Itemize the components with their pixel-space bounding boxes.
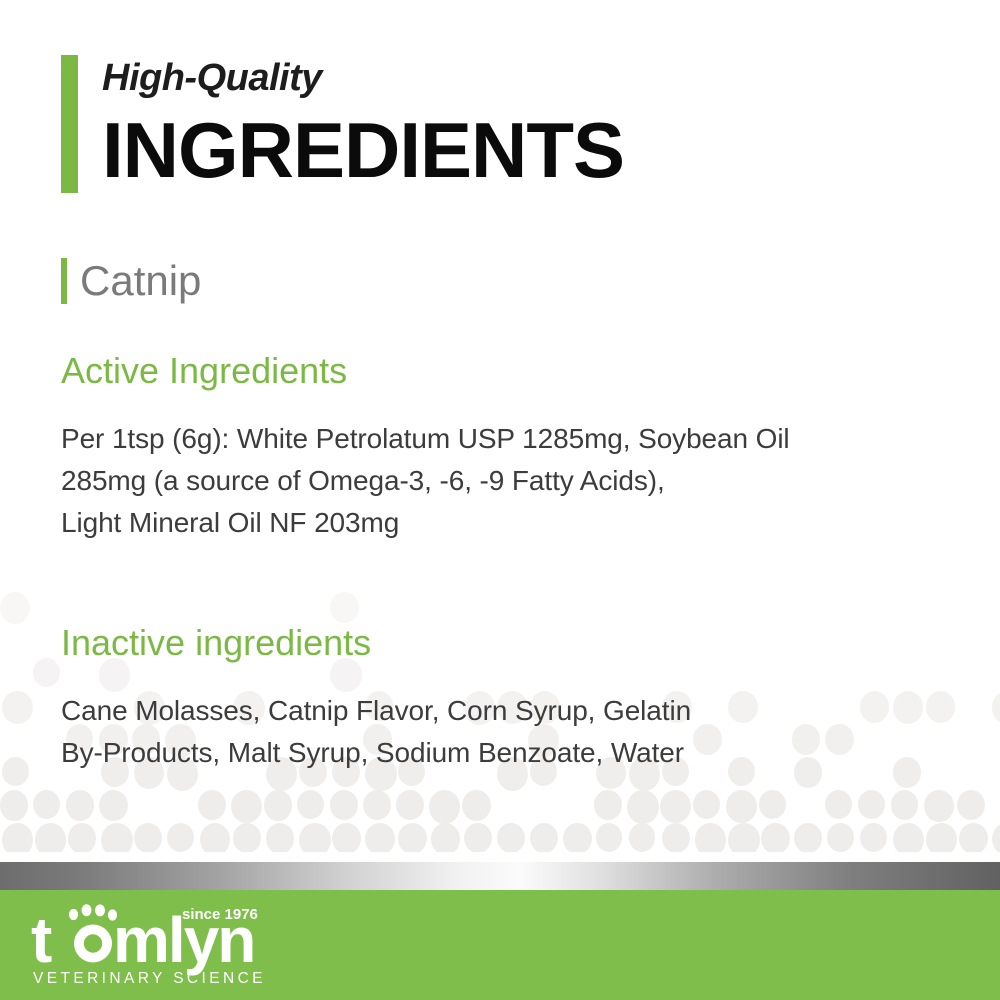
decorative-dot (231, 790, 262, 823)
section-title-inactive: Inactive ingredients (61, 622, 951, 664)
page-header: High-Quality INGREDIENTS (61, 55, 624, 193)
decorative-dot (2, 757, 29, 786)
decorative-dot (233, 823, 261, 852)
decorative-dot (33, 790, 60, 819)
decorative-dot (429, 790, 460, 824)
page-footer: t mlyn since 1976 VETERINARY SCIENCE (0, 890, 1000, 1000)
tomlyn-logo[interactable]: t mlyn since 1976 VETERINARY SCIENCE (31, 902, 291, 988)
header-eyebrow: High-Quality (102, 59, 624, 97)
decorative-dot (198, 790, 226, 820)
decorative-dot (33, 658, 60, 687)
header-text-group: High-Quality INGREDIENTS (102, 55, 624, 193)
decorative-dot (200, 823, 230, 852)
body-line: Cane Molasses, Catnip Flavor, Corn Syrup… (61, 690, 951, 732)
decorative-dot (860, 823, 887, 852)
decorative-dot (825, 790, 852, 819)
decorative-dot (563, 823, 592, 852)
decorative-dot (761, 823, 790, 852)
section-inactive-ingredients: Inactive ingredients Cane Molasses, Catn… (61, 622, 951, 774)
decorative-dot (924, 790, 954, 822)
decorative-dot (68, 823, 96, 852)
decorative-dot (629, 823, 655, 852)
body-line: Per 1tsp (6g): White Petrolatum USP 1285… (61, 418, 951, 460)
section-active-ingredients: Active Ingredients Per 1tsp (6g): White … (61, 350, 951, 544)
decorative-dot (728, 823, 760, 852)
decorative-dot (134, 823, 162, 852)
decorative-dot (0, 592, 30, 624)
body-line: By-Products, Malt Syrup, Sodium Benzoate… (61, 732, 951, 774)
decorative-dot (66, 790, 94, 821)
ingredients-panel: High-Quality INGREDIENTS Catnip Active I… (0, 0, 1000, 1000)
decorative-dot (891, 790, 918, 820)
decorative-dot (167, 823, 194, 852)
section-title-active: Active Ingredients (61, 350, 951, 392)
decorative-dot (726, 790, 757, 823)
product-name: Catnip (80, 258, 201, 304)
decorative-dot (431, 823, 460, 852)
decorative-dot (992, 823, 1000, 852)
decorative-dot (662, 823, 690, 852)
decorative-dot (297, 790, 324, 819)
header-accent-bar (61, 55, 78, 193)
logo-since-label: since 1976 (182, 906, 258, 923)
decorative-dot (926, 823, 957, 852)
decorative-dot (396, 790, 424, 820)
svg-text:t: t (31, 904, 52, 976)
decorative-dot (827, 823, 854, 852)
paw-print-umlaut-icon (69, 904, 117, 920)
section-body-active: Per 1tsp (6g): White Petrolatum USP 1285… (61, 418, 951, 544)
decorative-dot (992, 691, 1000, 724)
decorative-dot (497, 823, 525, 852)
decorative-dot (330, 592, 359, 623)
decorative-dot (530, 823, 558, 852)
decorative-dot (596, 823, 622, 852)
decorative-dot (959, 823, 988, 852)
decorative-dot (462, 790, 491, 821)
page-title: INGREDIENTS (102, 111, 624, 189)
decorative-dot (660, 790, 691, 823)
decorative-dot (99, 790, 128, 821)
decorative-dot (693, 790, 720, 819)
decorative-dot (594, 790, 622, 820)
decorative-dot (759, 790, 786, 819)
body-line: 285mg (a source of Omega-3, -6, -9 Fatty… (61, 460, 951, 502)
decorative-dot (627, 790, 659, 824)
decorative-dot (363, 790, 391, 820)
logo-tagline-label: VETERINARY SCIENCE (33, 970, 266, 987)
decorative-dot (464, 823, 492, 852)
decorative-dot (695, 823, 726, 852)
decorative-dot (794, 823, 822, 852)
product-name-row: Catnip (61, 258, 201, 304)
decorative-dot (858, 790, 885, 819)
section-body-inactive: Cane Molasses, Catnip Flavor, Corn Syrup… (61, 690, 951, 774)
decorative-dot (2, 691, 33, 724)
decorative-dot (893, 823, 924, 852)
product-accent-bar (61, 258, 67, 304)
decorative-dot (330, 790, 358, 820)
decorative-dot (2, 823, 33, 852)
decorative-dot (0, 790, 28, 821)
decorative-dot (35, 823, 66, 852)
decorative-dot (398, 823, 427, 852)
gradient-divider-bar (0, 862, 1000, 890)
decorative-dot (957, 790, 985, 820)
decorative-dot (266, 823, 294, 852)
decorative-dot (101, 823, 133, 852)
decorative-dot (365, 823, 395, 852)
decorative-dot (332, 823, 361, 852)
body-line: Light Mineral Oil NF 203mg (61, 502, 951, 544)
decorative-dot (299, 823, 331, 852)
decorative-dot (264, 790, 292, 821)
